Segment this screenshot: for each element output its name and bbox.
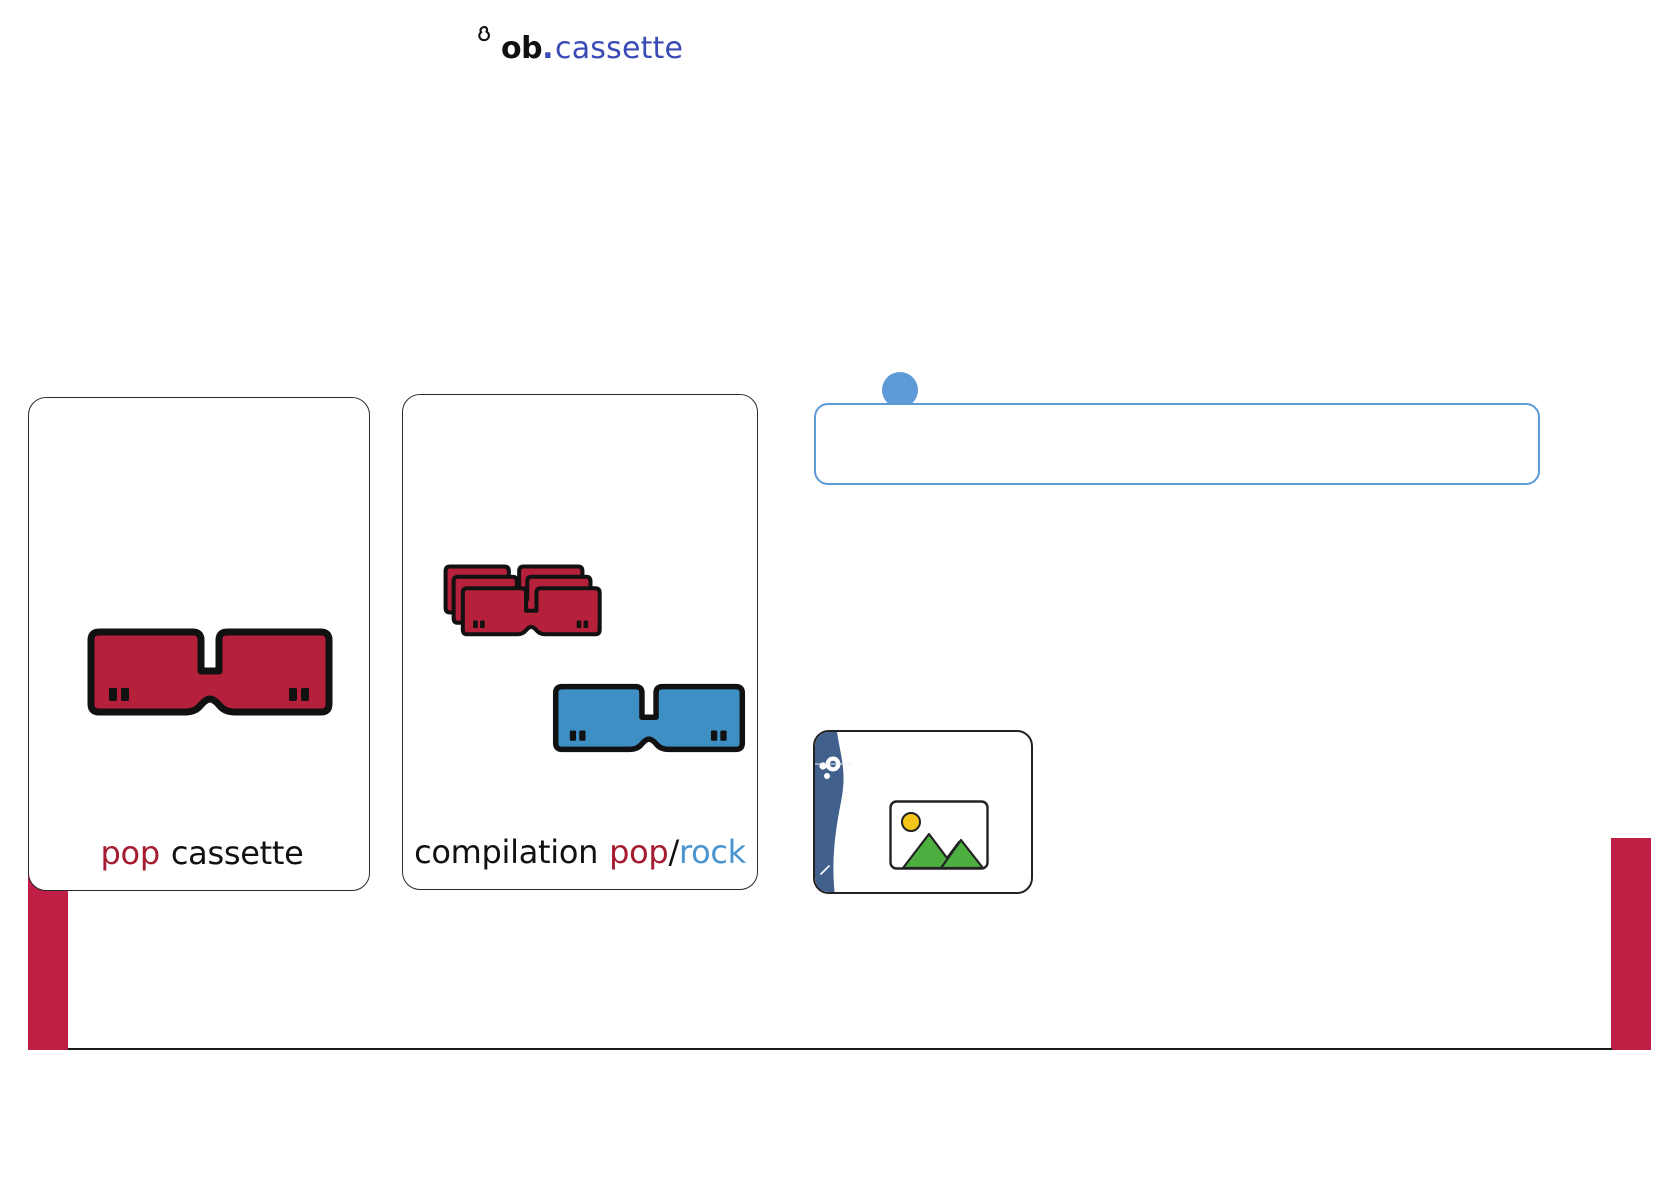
card-label-part-2: / [668,833,678,871]
chat-input-container [814,370,1540,490]
accent-bar-right [1611,838,1651,1050]
bob-logo-mark-icon [478,24,500,58]
brand-logo[interactable]: ob . cassette [478,24,683,64]
image-placeholder-icon [889,800,989,870]
brand-name-secondary: cassette [555,34,683,64]
brand-dot: . [542,34,553,64]
card-label-part-1: pop [609,833,668,871]
chat-input-field[interactable] [814,403,1540,485]
bubbles-icon [815,732,853,892]
cassette-card-pop[interactable]: popcassette [28,397,370,891]
card-label-part-1: cassette [171,834,304,872]
media-attachment-card[interactable] [813,730,1033,894]
card-artwork [29,398,369,798]
cassette-red-single [85,626,335,718]
cassette-red-stack [411,563,617,655]
card-label-part-0: pop [101,834,160,872]
card-label-pop: popcassette [29,834,369,872]
bottom-divider [68,1048,1612,1050]
cassette-blue-single [551,677,747,759]
brand-name-primary: ob [501,34,542,64]
card-label-part-3: rock [679,833,746,871]
card-artwork [403,395,757,795]
card-label-part-0: compilation [414,833,598,871]
card-label-compilation: compilationpop/rock [403,833,757,871]
cassette-card-compilation[interactable]: compilationpop/rock [402,394,758,890]
chat-input[interactable] [834,405,1524,483]
